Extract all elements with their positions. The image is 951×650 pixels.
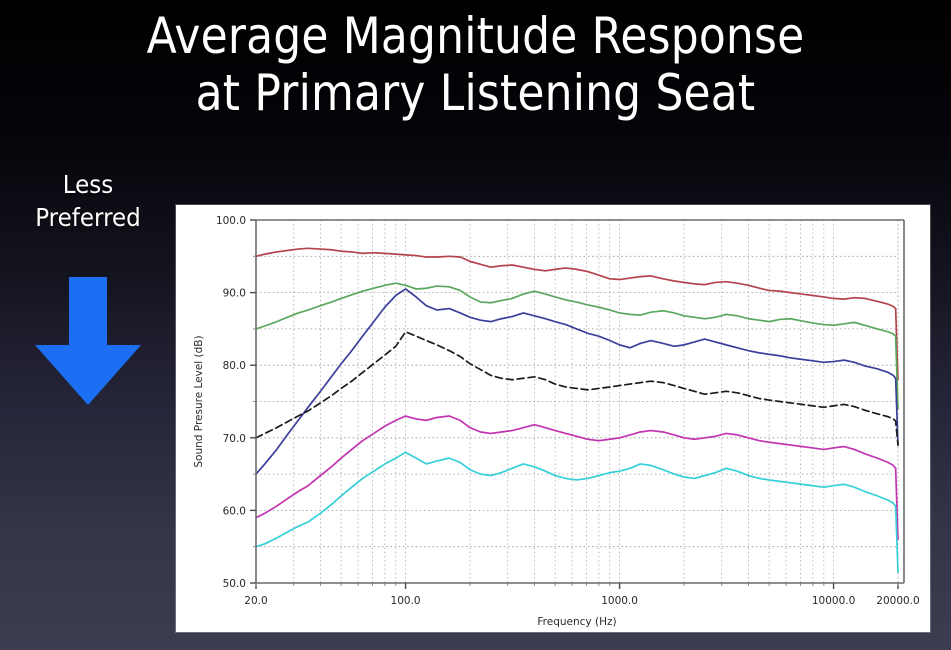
x-tick-label: 100.0 — [391, 595, 421, 607]
y-tick-label: 70.0 — [223, 433, 246, 445]
y-tick-label: 80.0 — [223, 360, 246, 372]
slide-root: Average Magnitude Response at Primary Li… — [0, 0, 951, 650]
x-tick-label: 10000.0 — [812, 595, 855, 607]
series-line-5 — [256, 416, 898, 539]
x-tick-label: 1000.0 — [601, 595, 638, 607]
x-tick-label: 20.0 — [244, 595, 267, 607]
y-axis-title: Sound Presure Level (dB) — [193, 335, 205, 467]
annotation-less-preferred: Less Preferred — [11, 168, 166, 234]
chart-panel: 50.060.070.080.090.0100.020.0100.01000.0… — [176, 205, 930, 632]
arrow-down-icon — [17, 277, 157, 409]
y-tick-label: 50.0 — [223, 578, 246, 590]
y-tick-label: 90.0 — [223, 288, 246, 300]
x-tick-label: 20000.0 — [876, 595, 919, 607]
arrow-down-shape — [35, 277, 141, 405]
magnitude-response-chart: 50.060.070.080.090.0100.020.0100.01000.0… — [176, 205, 930, 632]
page-title: Average Magnitude Response at Primary Li… — [0, 6, 951, 119]
x-axis-title: Frequency (Hz) — [537, 616, 616, 628]
page-title-line-2: at Primary Listening Seat — [57, 63, 894, 120]
series-line-2 — [256, 283, 898, 409]
y-tick-label: 60.0 — [223, 505, 246, 517]
chart-gridlines — [256, 220, 898, 583]
chart-tick-labels: 50.060.070.080.090.0100.020.0100.01000.0… — [193, 215, 920, 628]
annotation-line-1: Less — [11, 168, 166, 201]
page-title-line-1: Average Magnitude Response — [57, 6, 894, 63]
annotation-line-2: Preferred — [11, 201, 166, 234]
chart-series-layer — [256, 248, 898, 572]
y-tick-label: 100.0 — [216, 215, 246, 227]
chart-axes — [250, 220, 904, 589]
series-line-6 — [256, 452, 898, 572]
